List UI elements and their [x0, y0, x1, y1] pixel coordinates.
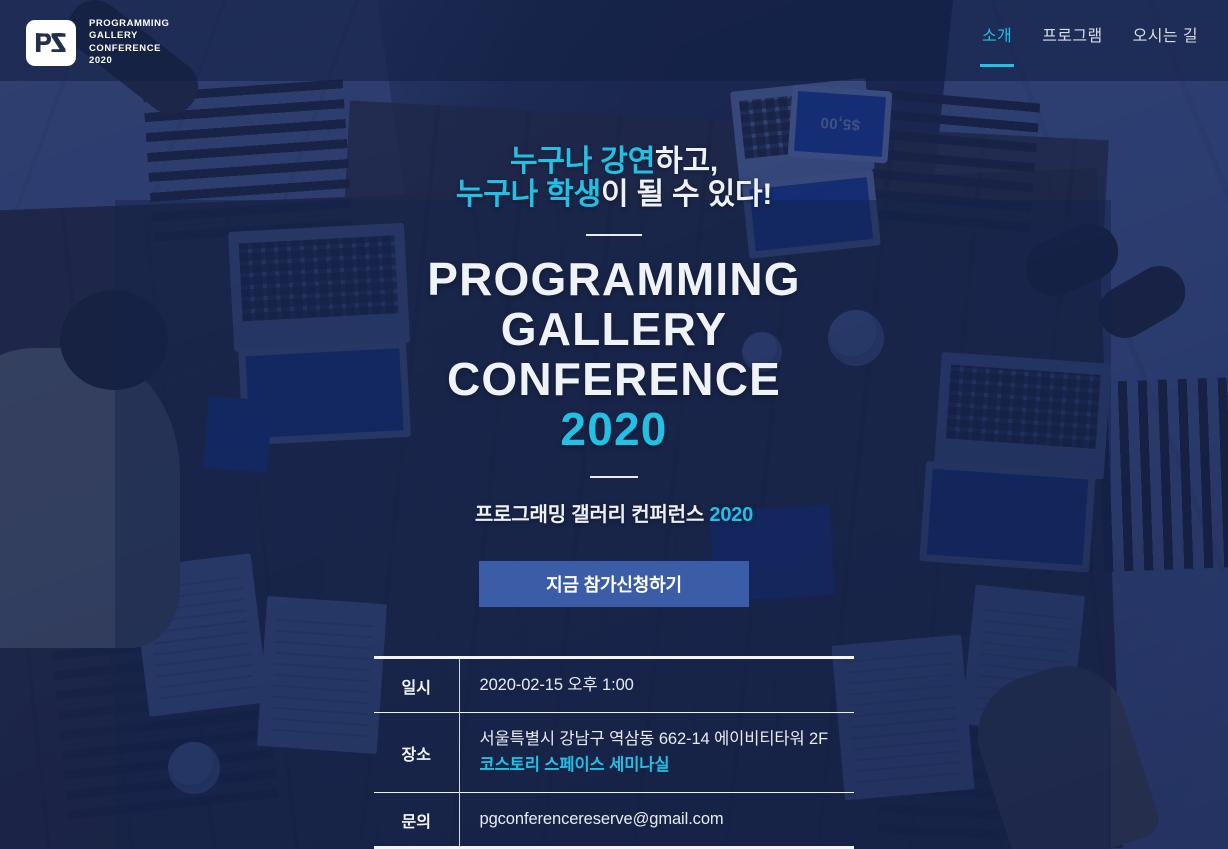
hero-divider-bottom — [590, 476, 638, 478]
main-navigation: 소개 프로그램 오시는 길 — [980, 16, 1200, 46]
nav-item-about[interactable]: 소개 — [980, 16, 1014, 46]
info-value-contact-email: pgconferencereserve@gmail.com — [480, 810, 724, 828]
info-label-venue: 장소 — [374, 713, 459, 793]
site-logo[interactable]: PROGRAMMING GALLERY CONFERENCE 2020 — [26, 18, 169, 67]
logo-line-3: CONFERENCE — [89, 43, 169, 55]
info-label-date: 일시 — [374, 658, 459, 713]
hero-title-line-2: GALLERY — [427, 304, 801, 354]
pgc-monogram-icon — [26, 20, 76, 66]
info-value-venue-address: 서울특별시 강남구 역삼동 662-14 에이비티타워 2F — [480, 730, 829, 748]
register-now-button[interactable]: 지금 참가신청하기 — [479, 561, 749, 607]
tagline-rest-1: 하고, — [655, 145, 718, 178]
hero-divider-top — [586, 234, 642, 236]
tagline-accent-2: 누구나 학생 — [456, 178, 601, 211]
logo-line-4: 2020 — [89, 55, 169, 67]
logo-line-1: PROGRAMMING — [89, 18, 169, 30]
hero-title-line-3: CONFERENCE — [427, 354, 801, 404]
info-value-venue-name: 코스토리 스페이스 세미나실 — [480, 753, 855, 778]
info-value-date: 2020-02-15 오후 1:00 — [459, 658, 854, 713]
table-row: 장소 서울특별시 강남구 역삼동 662-14 에이비티타워 2F 코스토리 스… — [374, 713, 854, 793]
info-value-contact: pgconferencereserve@gmail.com — [459, 793, 854, 848]
hero-title-year: 2020 — [427, 404, 801, 454]
landing-page: $5,00 — [0, 0, 1228, 849]
tagline-rest-2: 이 될 수 있다! — [601, 178, 772, 211]
hero-title: PROGRAMMING GALLERY CONFERENCE 2020 — [427, 254, 801, 454]
nav-item-directions[interactable]: 오시는 길 — [1131, 16, 1200, 46]
info-label-contact: 문의 — [374, 793, 459, 848]
tagline-line-2: 누구나 학생이 될 수 있다! — [456, 178, 772, 211]
table-row: 일시 2020-02-15 오후 1:00 — [374, 658, 854, 713]
logo-line-2: GALLERY — [89, 30, 169, 42]
tagline-line-1: 누구나 강연하고, — [456, 145, 772, 178]
hero-title-line-1: PROGRAMMING — [427, 254, 801, 304]
info-value-date-text: 2020-02-15 오후 1:00 — [480, 676, 634, 694]
logo-wordmark: PROGRAMMING GALLERY CONFERENCE 2020 — [89, 18, 169, 67]
hero-tagline: 누구나 강연하고, 누구나 학생이 될 수 있다! — [456, 145, 772, 211]
nav-item-program[interactable]: 프로그램 — [1040, 16, 1104, 46]
table-row: 문의 pgconferencereserve@gmail.com — [374, 793, 854, 848]
hero-section: 누구나 강연하고, 누구나 학생이 될 수 있다! PROGRAMMING GA… — [0, 0, 1228, 849]
info-value-venue: 서울특별시 강남구 역삼동 662-14 에이비티타워 2F 코스토리 스페이스… — [459, 713, 854, 793]
hero-subtitle-text: 프로그래밍 갤러리 컨퍼런스 — [475, 504, 704, 526]
tagline-accent-1: 누구나 강연 — [510, 145, 655, 178]
site-header: PROGRAMMING GALLERY CONFERENCE 2020 소개 프… — [0, 0, 1228, 81]
event-info-table: 일시 2020-02-15 오후 1:00 장소 서울특별시 강남구 역삼동 6… — [374, 656, 854, 849]
hero-subtitle-year: 2020 — [709, 504, 753, 526]
hero-subtitle: 프로그래밍 갤러리 컨퍼런스 2020 — [475, 498, 753, 527]
